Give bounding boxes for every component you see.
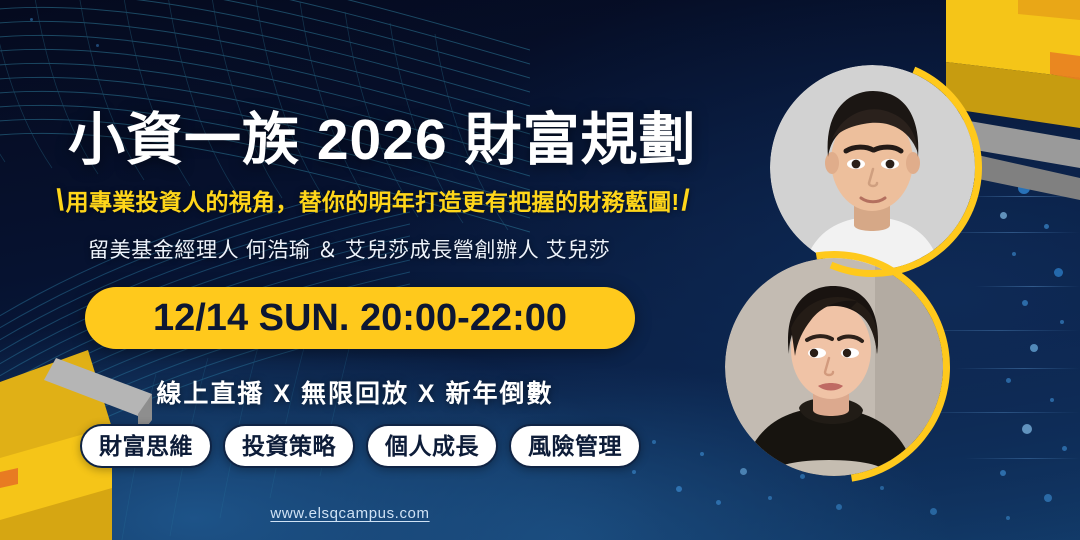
slash-left-icon: \ xyxy=(55,186,65,216)
topic-tag: 財富思維 xyxy=(80,424,212,468)
website-url[interactable]: www.elsqcampus.com xyxy=(0,505,700,522)
topic-tag-label: 財富思維 xyxy=(99,435,193,458)
features-line: 線上直播 X 無限回放 X 新年倒數 xyxy=(0,374,710,410)
page-title: 小資一族 2026 財富規劃 xyxy=(68,112,758,169)
promo-banner: 小資一族 2026 財富規劃 \用專業投資人的視角，替你的明年打造更有把握的財務… xyxy=(0,0,1080,540)
topic-tag-label: 風險管理 xyxy=(528,435,622,458)
topic-tag-list: 財富思維 投資策略 個人成長 風險管理 xyxy=(80,424,640,468)
topic-tag: 投資策略 xyxy=(223,424,355,468)
subtitle: \用專業投資人的視角，替你的明年打造更有把握的財務藍圖!/ xyxy=(56,186,766,216)
event-datetime-badge: 12/14 SUN. 20:00-22:00 xyxy=(85,287,635,349)
speakers-credit: 留美基金經理人 何浩瑜 ＆ 艾兒莎成長營創辦人 艾兒莎 xyxy=(88,234,728,264)
speaker-photo-male xyxy=(770,65,975,270)
event-datetime-text: 12/14 SUN. 20:00-22:00 xyxy=(153,299,567,337)
topic-tag: 個人成長 xyxy=(366,424,498,468)
topic-tag-label: 投資策略 xyxy=(242,435,336,458)
topic-tag-label: 個人成長 xyxy=(385,435,479,458)
topic-tag: 風險管理 xyxy=(509,424,641,468)
slash-right-icon: / xyxy=(681,186,690,216)
banner-content: 小資一族 2026 財富規劃 \用專業投資人的視角，替你的明年打造更有把握的財務… xyxy=(0,0,760,540)
subtitle-text: 用專業投資人的視角，替你的明年打造更有把握的財務藍圖! xyxy=(66,189,680,215)
